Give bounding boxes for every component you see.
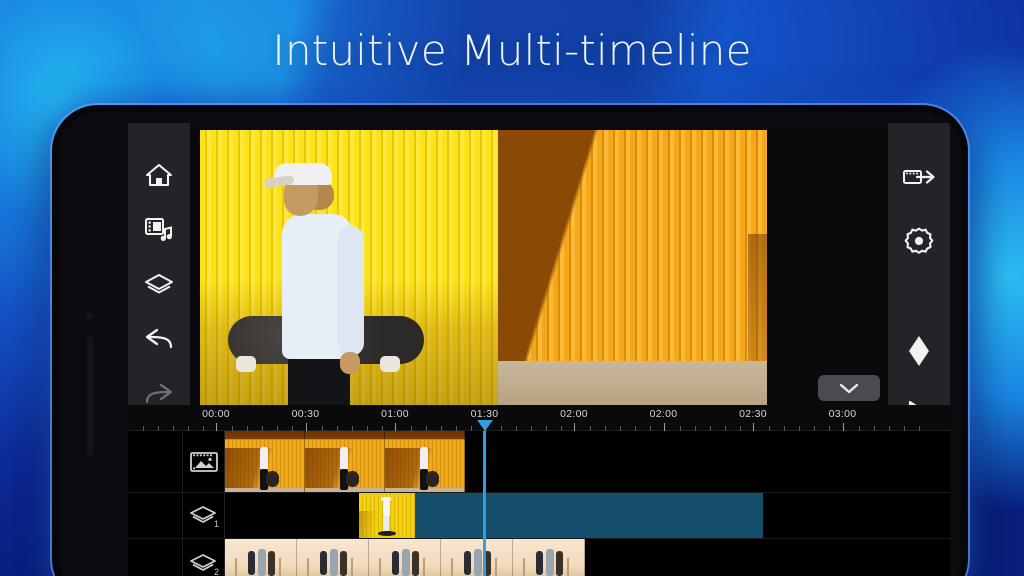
track-body-video[interactable] bbox=[225, 431, 950, 492]
clip-layer1-yellow[interactable] bbox=[359, 493, 415, 538]
ruler-label: 02:00 bbox=[560, 408, 588, 420]
track-layer-1[interactable]: 1 bbox=[128, 493, 950, 539]
undo-icon bbox=[143, 328, 175, 352]
track-gutter bbox=[128, 493, 183, 538]
photo-film-icon bbox=[189, 450, 219, 474]
layers-button[interactable] bbox=[128, 257, 190, 312]
preview-panel bbox=[190, 123, 888, 405]
track-video-main[interactable] bbox=[128, 431, 950, 493]
skater-hand bbox=[340, 352, 360, 374]
playhead-handle[interactable] bbox=[477, 420, 493, 431]
track-header-video[interactable] bbox=[183, 431, 225, 492]
thumbnail bbox=[513, 539, 585, 576]
track-gutter bbox=[128, 539, 183, 576]
track-body-layer-2[interactable] bbox=[225, 539, 950, 576]
ruler-label: 01:30 bbox=[471, 408, 499, 420]
track-body-layer-1[interactable] bbox=[225, 493, 950, 538]
ruler-tick-major bbox=[306, 423, 307, 431]
home-icon bbox=[145, 162, 173, 188]
thumbnail bbox=[369, 539, 441, 576]
media-icon bbox=[144, 216, 174, 244]
track-layer-2[interactable]: 2 bbox=[128, 539, 950, 576]
board-wheel-right bbox=[380, 356, 400, 372]
settings-button[interactable] bbox=[888, 209, 950, 273]
thumbnail bbox=[359, 493, 415, 538]
phone-mockup: 00:0000:3001:0001:3002:0002:0002:3003:00 bbox=[52, 105, 968, 576]
layers-icon: 2 bbox=[189, 551, 219, 576]
ruler-label: 03:00 bbox=[829, 408, 857, 420]
ruler-tick-major bbox=[216, 423, 217, 431]
ruler-tick-major bbox=[574, 423, 575, 431]
thumbnail bbox=[225, 539, 297, 576]
settings-gear-icon bbox=[904, 226, 934, 256]
keyframe-diamond-icon bbox=[907, 334, 931, 368]
redo-icon bbox=[143, 383, 175, 407]
keyframe-button[interactable] bbox=[888, 319, 950, 383]
layers-icon: 1 bbox=[189, 503, 219, 529]
thumbnail bbox=[297, 539, 369, 576]
thumbnail bbox=[225, 431, 305, 492]
preview-video[interactable] bbox=[200, 130, 767, 405]
collapse-preview-button[interactable] bbox=[818, 375, 880, 401]
skater-arm bbox=[338, 226, 364, 356]
pane-right-ground bbox=[498, 361, 767, 405]
app-screen: 00:0000:3001:0001:3002:0002:0002:3003:00 bbox=[128, 123, 950, 576]
render-icon bbox=[902, 166, 936, 188]
ruler-label: 02:00 bbox=[650, 408, 678, 420]
phone-bezel: 00:0000:3001:0001:3002:0002:0002:3003:00 bbox=[59, 112, 961, 576]
thumbnail bbox=[385, 431, 465, 492]
layers-icon bbox=[144, 272, 174, 298]
preview-pane-right bbox=[498, 130, 767, 405]
ruler-label: 02:30 bbox=[739, 408, 767, 420]
thumbnail bbox=[305, 431, 385, 492]
render-button[interactable] bbox=[888, 145, 950, 209]
track-header-layer-2[interactable]: 2 bbox=[183, 539, 225, 576]
timeline-tracks: 1 bbox=[128, 431, 950, 576]
chevron-down-icon bbox=[838, 382, 860, 395]
ruler-label: 01:00 bbox=[381, 408, 409, 420]
svg-text:1: 1 bbox=[214, 519, 219, 529]
ruler-tick-major bbox=[395, 423, 396, 431]
media-button[interactable] bbox=[128, 202, 190, 257]
track-header-layer-1[interactable]: 1 bbox=[183, 493, 225, 538]
page-title: Intuitive Multi-timeline bbox=[0, 26, 1024, 75]
ruler-tick-major bbox=[664, 423, 665, 431]
svg-text:2: 2 bbox=[214, 567, 219, 576]
phone-speaker bbox=[87, 336, 93, 456]
clip-video-1[interactable] bbox=[225, 431, 465, 492]
phone-camera bbox=[85, 312, 94, 321]
ruler-tick-major bbox=[753, 423, 754, 431]
track-gutter bbox=[128, 431, 183, 492]
undo-button[interactable] bbox=[128, 312, 190, 367]
timeline-panel[interactable]: 00:0000:3001:0001:3002:0002:0002:3003:00 bbox=[128, 405, 950, 576]
ruler-tick-major bbox=[843, 423, 844, 431]
clip-layer2-photos[interactable] bbox=[225, 539, 585, 576]
home-button[interactable] bbox=[128, 147, 190, 202]
preview-pane-left bbox=[200, 130, 498, 405]
ruler-label: 00:00 bbox=[202, 408, 230, 420]
clip-layer1-teal[interactable] bbox=[415, 493, 763, 538]
board-wheel-left bbox=[236, 356, 256, 372]
thumbnail bbox=[441, 539, 513, 576]
timeline-ruler[interactable]: 00:0000:3001:0001:3002:0002:0002:3003:00 bbox=[128, 405, 950, 431]
ruler-label: 00:30 bbox=[292, 408, 320, 420]
